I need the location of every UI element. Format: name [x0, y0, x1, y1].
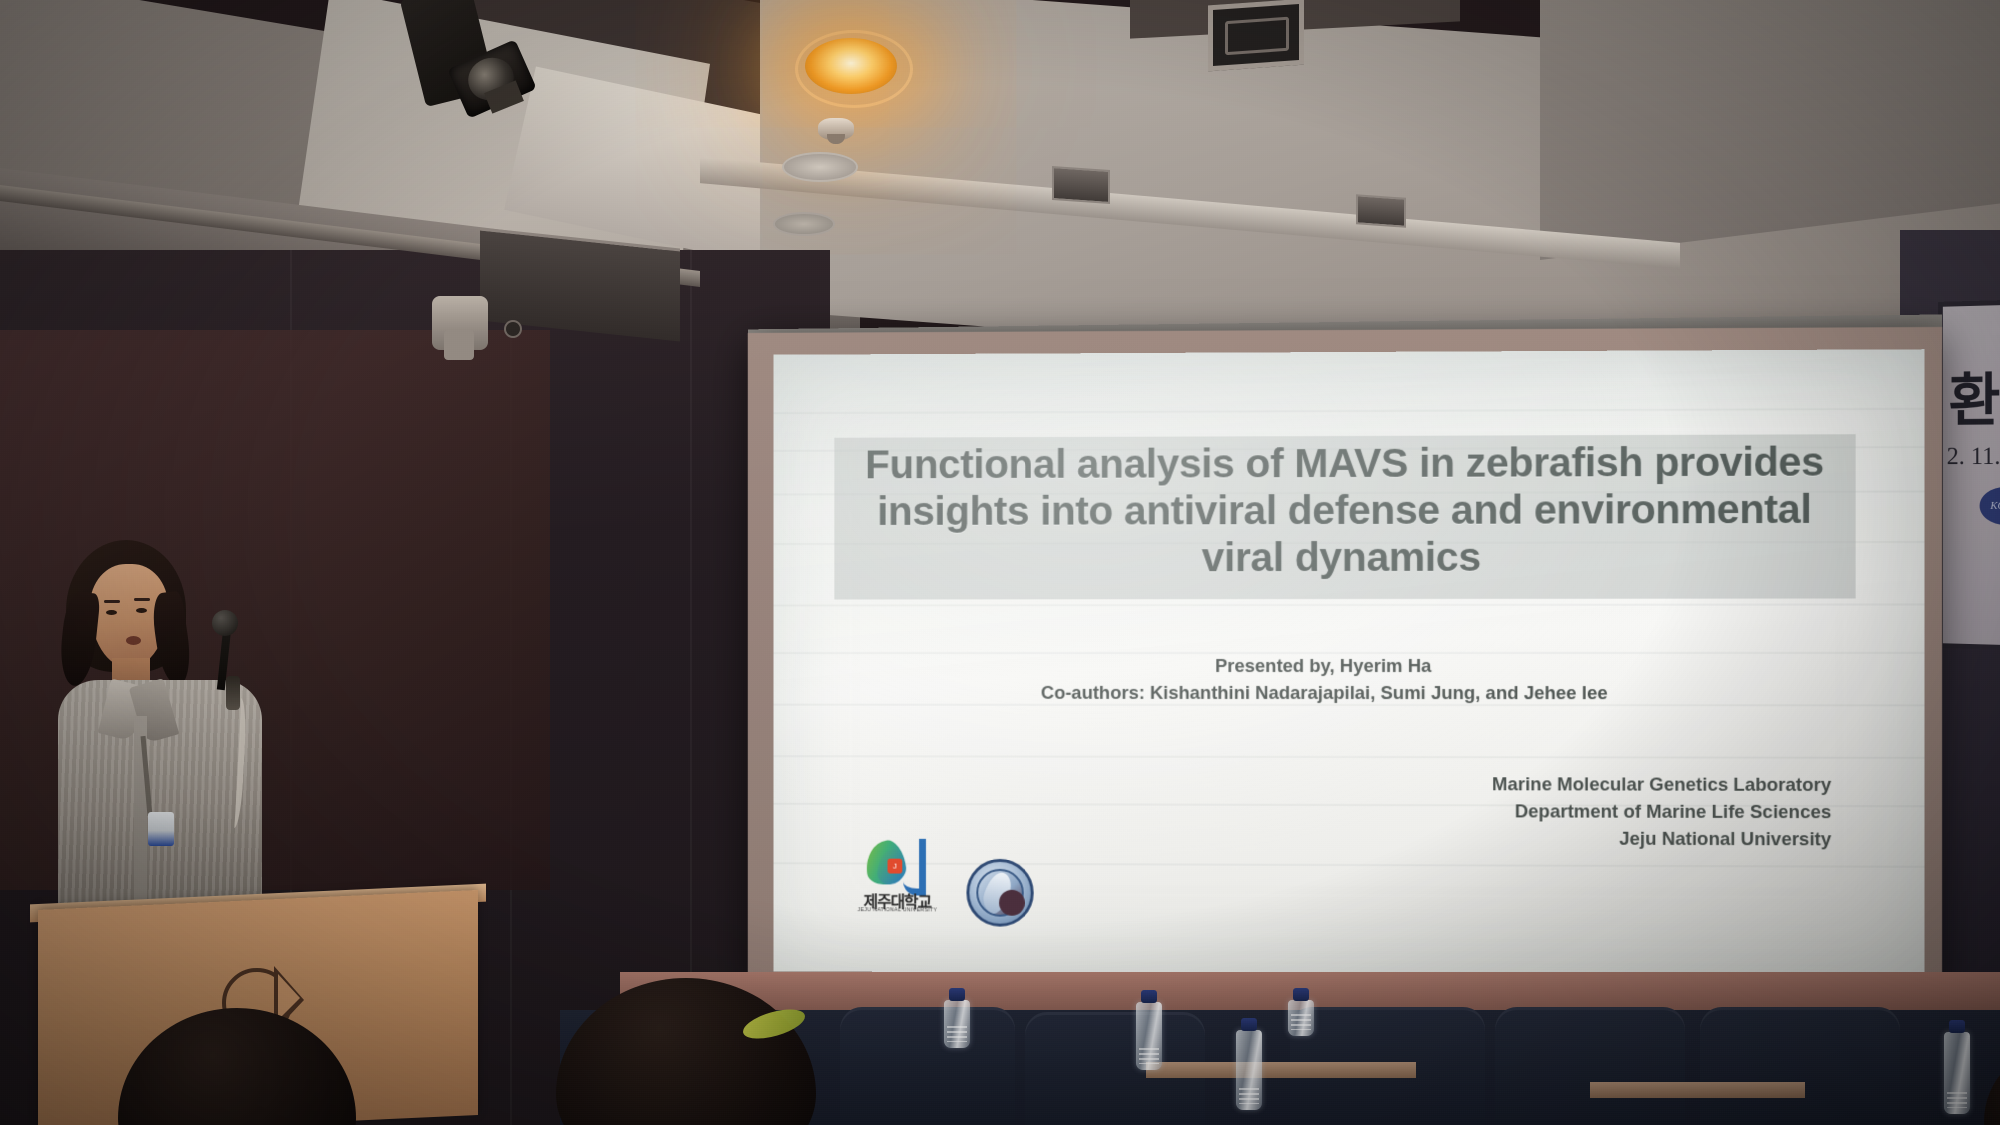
water-bottle [1944, 1032, 1970, 1114]
water-bottle [944, 1000, 970, 1048]
slide-title-line-1: Functional analysis of MAVS in zebrafish… [834, 438, 1855, 488]
projector-fixing-bolt [506, 322, 520, 336]
chair [1700, 1007, 1900, 1125]
table-edge [1146, 1062, 1416, 1078]
slide-affiliation-block: Marine Molecular Genetics Laboratory Dep… [1492, 770, 1831, 852]
slide-presenter-block: Presented by, Hyerim Ha Co-authors: Kish… [773, 652, 1882, 706]
projection-screen-surface: Functional analysis of MAVS in zebrafish… [773, 349, 1924, 977]
smoke-detector-icon [818, 118, 854, 140]
microphone-coil [226, 676, 240, 710]
presenter-line: Presented by, Hyerim Ha [773, 652, 1882, 679]
jnu-logo-english-text: JEJU NATIONAL UNIVERSITY [854, 907, 941, 913]
projector-mount-bracket [432, 296, 488, 350]
recessed-light-icon [782, 152, 858, 182]
affiliation-line-1: Marine Molecular Genetics Laboratory [1492, 770, 1831, 798]
coauthors-line: Co-authors: Kishanthini Nadarajapilai, S… [773, 679, 1882, 706]
slide-title-line-3: viral dynamics [834, 533, 1855, 582]
banner-date-text: 2. 11. [1947, 443, 2000, 471]
slide-title: Functional analysis of MAVS in zebrafish… [834, 438, 1855, 581]
banner-korean-text: 환 [1949, 353, 2000, 437]
jnu-logo-mark-letter: J [888, 859, 903, 874]
banner-organization-logo: KOMS [1980, 487, 2000, 525]
affiliation-line-3: Jeju National University [1492, 824, 1831, 852]
marine-molecular-genetics-lab-emblem-icon [966, 859, 1033, 927]
presenter-hair-side [57, 590, 101, 687]
ceiling-fixture-icon [1052, 166, 1110, 204]
presenter-mouth [126, 636, 141, 645]
water-bottle [1136, 1002, 1162, 1070]
ceiling-fixture-icon [1356, 194, 1406, 227]
chair [840, 1007, 1015, 1125]
affiliation-line-2: Department of Marine Life Sciences [1492, 797, 1831, 825]
presenter-figure [60, 540, 290, 910]
water-bottle [1236, 1030, 1262, 1110]
jeju-national-university-logo-icon: J 제주대학교 JEJU NATIONAL UNIVERSITY [860, 839, 933, 927]
ceiling-vent-icon [1208, 0, 1304, 71]
water-bottle [1288, 1000, 1314, 1036]
slide-title-line-2: insights into antiviral defense and envi… [834, 486, 1855, 535]
event-banner: 환 2. 11. KOMS [1938, 298, 2000, 652]
slide-logo-row: J 제주대학교 JEJU NATIONAL UNIVERSITY [860, 839, 1034, 927]
table-edge [1590, 1082, 1805, 1098]
recessed-light-icon [773, 212, 835, 236]
chair [1495, 1007, 1685, 1125]
presenter-hair-side [150, 590, 195, 688]
ceiling-downlight-icon [805, 38, 897, 94]
microphone-icon [212, 610, 238, 636]
presenter-name-badge [148, 812, 174, 846]
conference-photo-scene: 환 2. 11. KOMS Functional analysis of MAV… [0, 0, 2000, 1125]
